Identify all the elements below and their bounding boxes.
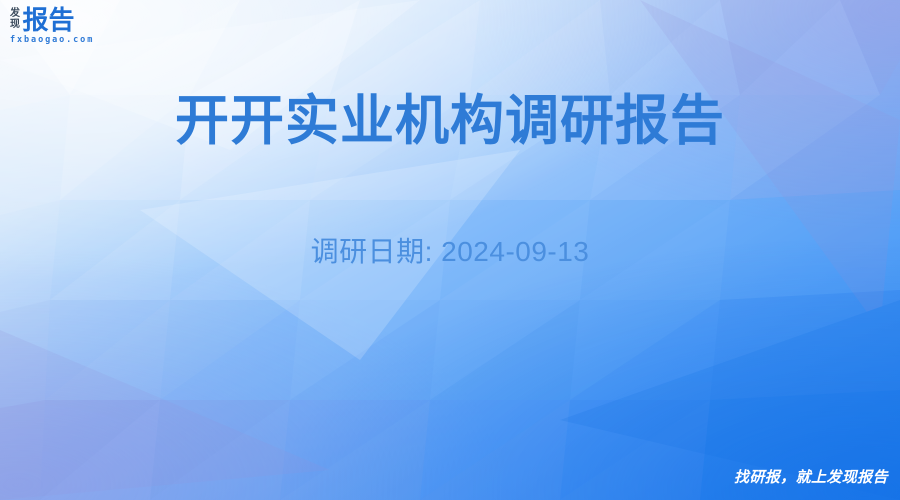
research-date-subtitle: 调研日期: 2024-09-13 (0, 232, 900, 272)
page-title: 开开实业机构调研报告 (0, 88, 900, 154)
report-cover-slide: 发 现 报告 fxbaogao.com 开开实业机构调研报告 调研日期: 202… (0, 0, 900, 500)
footer-slogan: 找研报，就上发现报告 (734, 468, 888, 488)
cover-content: 开开实业机构调研报告 调研日期: 2024-09-13 (0, 0, 900, 500)
